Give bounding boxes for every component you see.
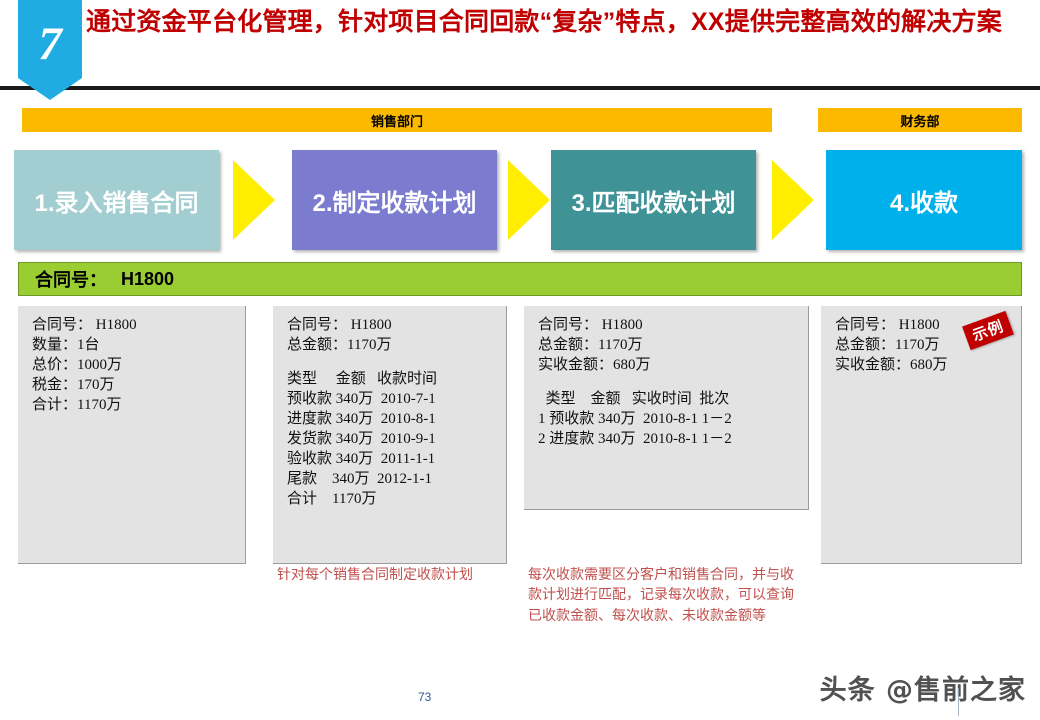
card2-row-4: 验收款 340万 2011-1-1 — [287, 450, 498, 470]
watermark-tick-mark — [958, 688, 959, 716]
caption-payment-match: 每次收款需要区分客户和销售合同，并与收款计划进行匹配，记录每次收款，可以查询已收… — [528, 566, 796, 627]
page-number: 73 — [418, 690, 431, 704]
card3-table-header: 类型 金额 实收时间 批次 — [538, 390, 800, 410]
process-step-1-label: 1.录入销售合同 — [34, 183, 198, 218]
card1-line-2: 数量：1台 — [32, 336, 237, 356]
card3-row-1: 1 预收款 340万 2010-8-1 1－2 — [538, 410, 800, 430]
card2-row-5: 尾款 340万 2012-1-1 — [287, 470, 498, 490]
detail-card-payment-match: 合同号： H1800 总金额：1170万 实收金额：680万 类型 金额 实收时… — [524, 306, 809, 510]
flow-arrow-icon-2 — [508, 160, 550, 240]
detail-card-payment-plan: 合同号： H1800 总金额：1170万 类型 金额 收款时间 预收款 340万… — [273, 306, 507, 564]
slide-number-banner: 7 — [18, 0, 82, 100]
department-bar-sales: 销售部门 — [22, 108, 772, 132]
card1-line-5: 合计：1170万 — [32, 396, 237, 416]
card4-line-3: 实收金额：680万 — [835, 356, 1013, 376]
card2-row-2: 进度款 340万 2010-8-1 — [287, 410, 498, 430]
card2-row-3: 发货款 340万 2010-9-1 — [287, 430, 498, 450]
contract-number-label: 合同号： — [19, 266, 107, 292]
detail-card-contract-entry: 合同号： H1800 数量：1台 总价：1000万 税金：170万 合计：117… — [18, 306, 246, 564]
card2-row-6: 合计 1170万 — [287, 490, 498, 510]
page-title: 通过资金平台化管理，针对项目合同回款“复杂”特点，XX提供完整高效的解决方案 — [86, 6, 1026, 38]
process-step-2-label: 2.制定收款计划 — [312, 183, 476, 218]
card3-row-2: 2 进度款 340万 2010-8-1 1－2 — [538, 430, 800, 450]
card1-line-1: 合同号： H1800 — [32, 316, 237, 336]
process-step-4-label: 4.收款 — [890, 183, 958, 218]
slide-number-text: 7 — [38, 21, 62, 68]
title-divider — [0, 86, 1040, 90]
process-step-3[interactable]: 3.匹配收款计划 — [551, 150, 756, 250]
card2-table-header: 类型 金额 收款时间 — [287, 370, 498, 390]
process-step-4[interactable]: 4.收款 — [826, 150, 1022, 250]
card2-row-1: 预收款 340万 2010-7-1 — [287, 390, 498, 410]
department-label-sales: 销售部门 — [371, 111, 423, 130]
process-step-3-label: 3.匹配收款计划 — [571, 183, 735, 218]
card3-head-1: 合同号： H1800 — [538, 316, 800, 336]
contract-header-bar: 合同号： H1800 — [18, 262, 1022, 296]
card3-head-3: 实收金额：680万 — [538, 356, 800, 376]
caption-payment-plan: 针对每个销售合同制定收款计划 — [277, 566, 499, 586]
department-label-finance: 财务部 — [900, 111, 939, 130]
card1-line-4: 税金：170万 — [32, 376, 237, 396]
card2-spacer — [287, 356, 498, 370]
contract-number-value: H1800 — [107, 269, 174, 290]
watermark-text: 头条 @售前之家 — [820, 668, 1026, 707]
process-step-2[interactable]: 2.制定收款计划 — [292, 150, 497, 250]
flow-arrow-icon-1 — [233, 160, 275, 240]
department-bar-finance: 财务部 — [818, 108, 1022, 132]
card2-head-2: 总金额：1170万 — [287, 336, 498, 356]
card3-spacer — [538, 376, 800, 390]
card1-line-3: 总价：1000万 — [32, 356, 237, 376]
card2-head-1: 合同号： H1800 — [287, 316, 498, 336]
detail-card-receipt: 合同号： H1800 总金额：1170万 实收金额：680万 — [821, 306, 1022, 564]
flow-arrow-icon-3 — [772, 160, 814, 240]
slide-root: 7 通过资金平台化管理，针对项目合同回款“复杂”特点，XX提供完整高效的解决方案… — [0, 0, 1040, 720]
card3-head-2: 总金额：1170万 — [538, 336, 800, 356]
process-step-1[interactable]: 1.录入销售合同 — [14, 150, 219, 250]
